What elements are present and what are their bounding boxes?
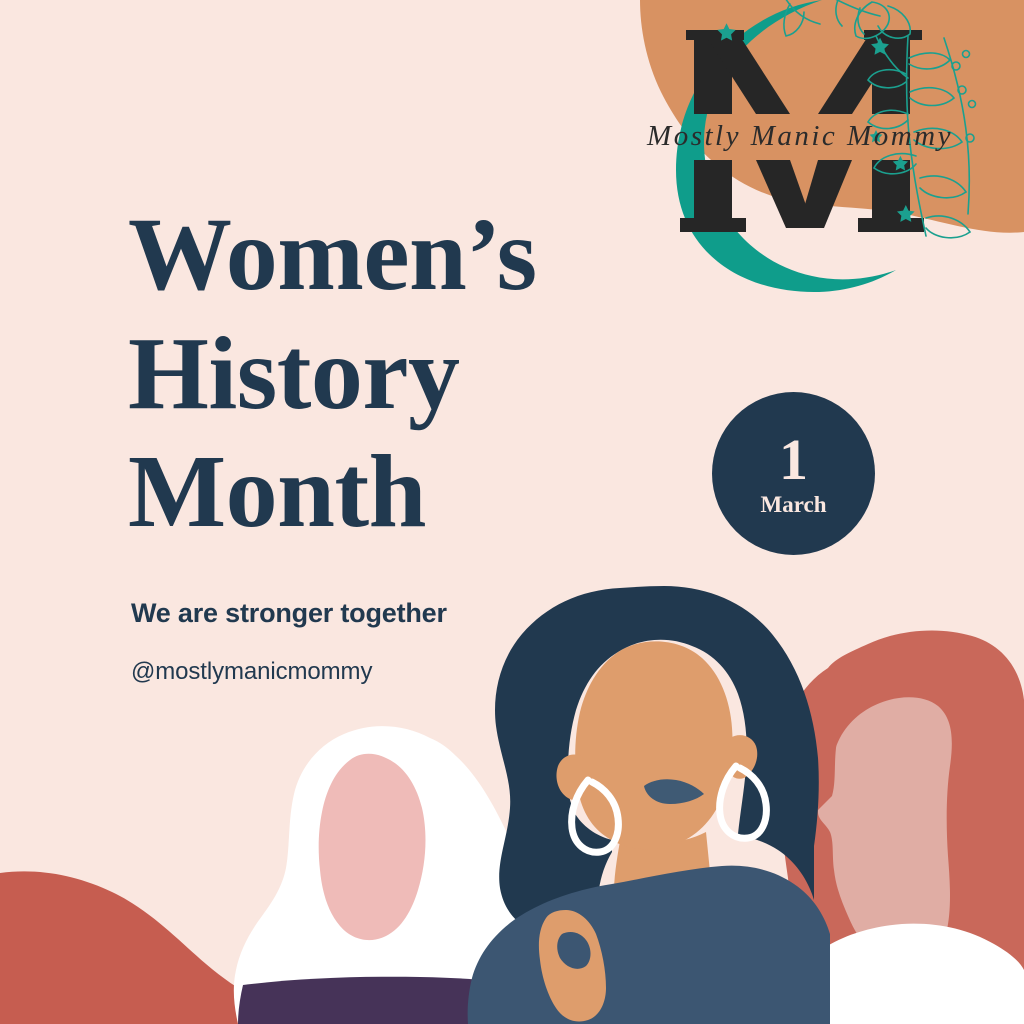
figure-woman-afro [468,586,830,1024]
women-illustration [0,0,1024,1024]
afro-face [575,641,732,849]
poster-canvas: Mostly Manic Mommy Women’s History Month… [0,0,1024,1024]
